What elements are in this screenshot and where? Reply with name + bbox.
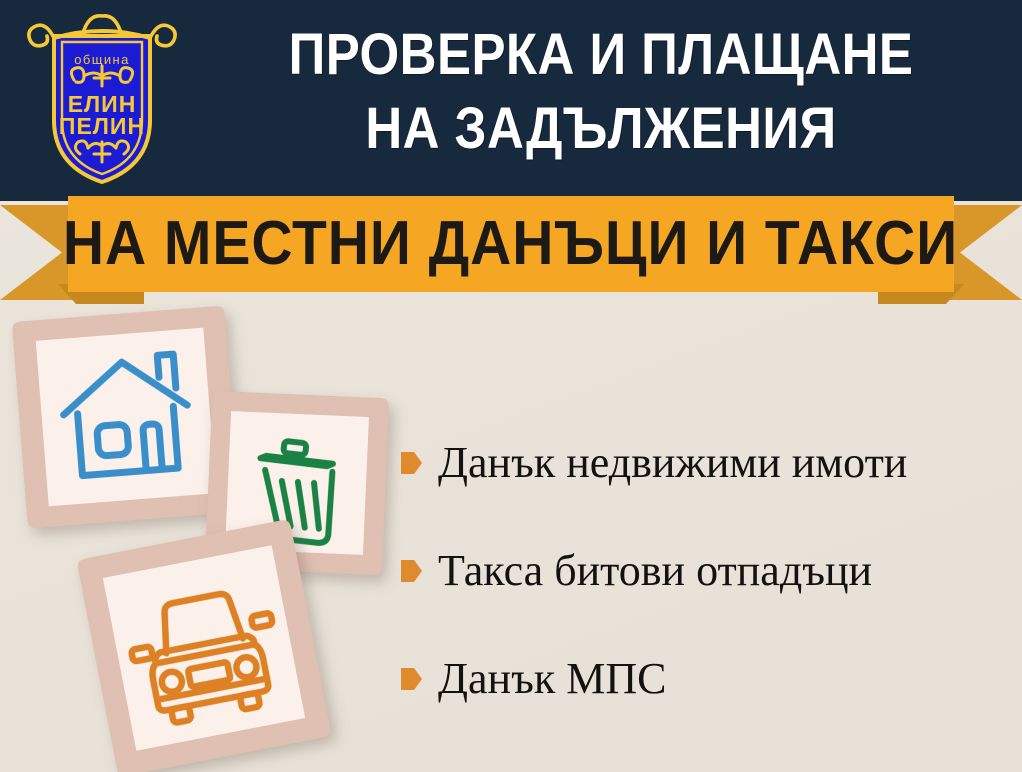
list-item[interactable]: Такса битови отпадъци xyxy=(401,538,1016,604)
list-item-label: Такса битови отпадъци xyxy=(438,546,872,596)
page-title-line-1: ПРОВЕРКА И ПЛАЩАНЕ xyxy=(236,18,966,92)
tax-type-list: Данък недвижими имоти Такса битови отпад… xyxy=(401,430,1016,712)
arrow-bullet-icon xyxy=(401,560,422,582)
list-item[interactable]: Данък МПС xyxy=(401,646,1016,712)
poster-canvas: община ЕЛИН ПЕЛИН ПРОВЕРКА И П xyxy=(0,0,1022,772)
list-item[interactable]: Данък недвижими имоти xyxy=(401,430,1016,496)
municipality-crest-logo: община ЕЛИН ПЕЛИН xyxy=(24,8,180,188)
arrow-bullet-icon xyxy=(401,668,422,690)
crest-line-pelin: ПЕЛИН xyxy=(59,113,145,139)
list-item-label: Данък недвижими имоти xyxy=(438,438,907,488)
list-item-label: Данък МПС xyxy=(438,654,666,704)
ribbon-main-band: НА МЕСТНИ ДАНЪЦИ И ТАКСИ xyxy=(68,196,954,292)
page-title-line-2: НА ЗАДЪЛЖЕНИЯ xyxy=(236,92,966,166)
ribbon-banner: НА МЕСТНИ ДАНЪЦИ И ТАКСИ xyxy=(0,196,1022,308)
ribbon-subtitle: НА МЕСТНИ ДАНЪЦИ И ТАКСИ xyxy=(63,213,958,275)
page-title: ПРОВЕРКА И ПЛАЩАНЕ НА ЗАДЪЛЖЕНИЯ xyxy=(236,18,966,166)
stamp-car xyxy=(68,510,341,772)
arrow-bullet-icon xyxy=(401,452,422,474)
